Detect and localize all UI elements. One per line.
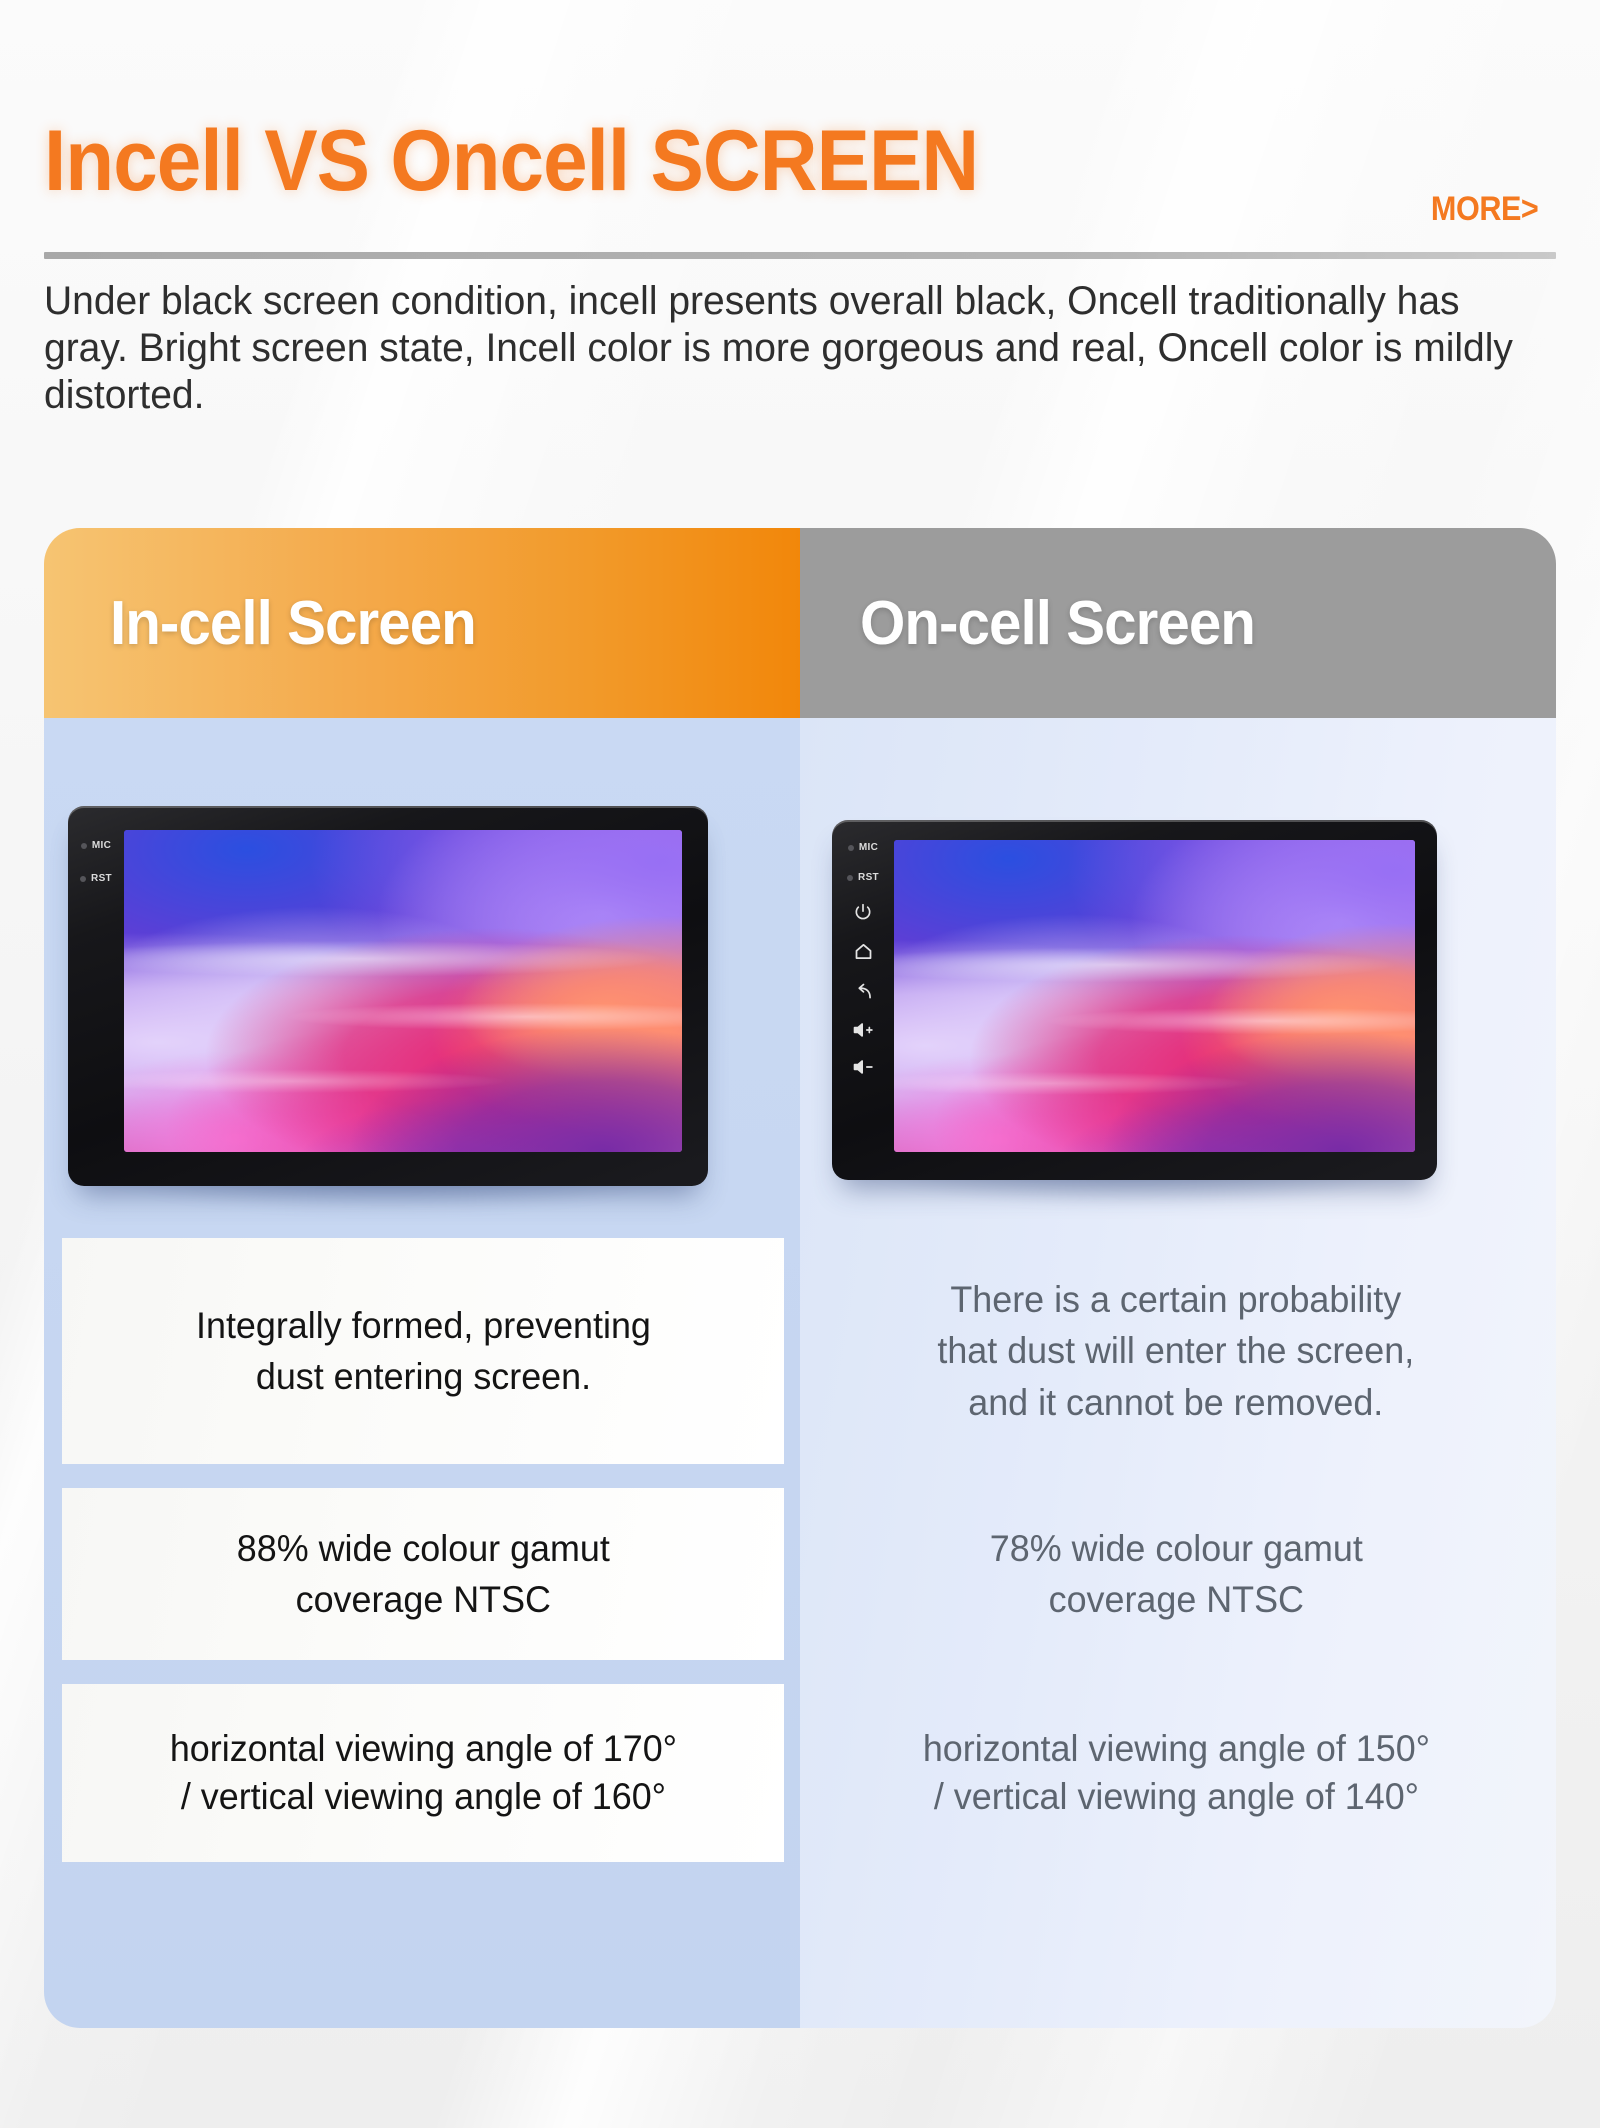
title-divider (44, 252, 1556, 259)
mic-indicator-dot (848, 845, 854, 851)
page-subtitle: Under black screen condition, incell pre… (44, 278, 1526, 420)
wallpaper-layer-highlights (894, 840, 1415, 1152)
comparison-tabs: In-cell Screen On-cell Screen (44, 528, 1556, 718)
feature-line: horizontal viewing angle of 170° (169, 1728, 676, 1769)
mic-icon[interactable]: MIC (81, 840, 111, 851)
mic-icon[interactable]: MIC (848, 842, 878, 853)
device-on-cell: MIC RST (832, 820, 1437, 1180)
tab-in-cell-screen[interactable]: In-cell Screen (44, 528, 800, 718)
feature-cards-on-cell: There is a certain probability that dust… (800, 1238, 1556, 2028)
feature-line: coverage NTSC (295, 1579, 550, 1620)
feature-card: horizontal viewing angle of 150° / verti… (806, 1684, 1546, 1862)
mic-indicator-dot (81, 843, 87, 849)
feature-card: Integrally formed, preventing dust enter… (62, 1238, 784, 1464)
feature-card-text: Integrally formed, preventing dust enter… (196, 1300, 651, 1402)
feature-line: dust entering screen. (255, 1356, 590, 1397)
device-control-column: MIC RST (832, 820, 894, 1202)
feature-line: There is a certain probability (951, 1279, 1402, 1320)
tab-in-cell-screen-label: In-cell Screen (110, 588, 476, 659)
feature-line: that dust will enter the screen, (938, 1330, 1415, 1371)
device-control-column: MIC RST (68, 806, 124, 1220)
volume-up-icon[interactable] (852, 1021, 874, 1039)
feature-line: Integrally formed, preventing (196, 1305, 651, 1346)
home-icon[interactable] (853, 941, 874, 962)
volume-down-icon[interactable] (852, 1058, 874, 1076)
feature-card: There is a certain probability that dust… (806, 1238, 1546, 1464)
feature-line: 88% wide colour gamut (236, 1528, 609, 1569)
reset-indicator-dot (80, 876, 86, 882)
power-icon[interactable] (853, 902, 873, 922)
comparison-panels: MIC RST (44, 718, 1556, 2028)
feature-card: 88% wide colour gamut coverage NTSC (62, 1488, 784, 1660)
back-icon[interactable] (853, 981, 874, 1002)
mic-label: MIC (859, 842, 878, 853)
feature-card-text: 78% wide colour gamut coverage NTSC (989, 1523, 1362, 1625)
reset-indicator-dot (847, 875, 853, 881)
feature-card-text: 88% wide colour gamut coverage NTSC (236, 1523, 609, 1625)
tab-on-cell-screen-label: On-cell Screen (860, 588, 1255, 659)
reset-label: RST (91, 873, 112, 884)
feature-card: 78% wide colour gamut coverage NTSC (806, 1488, 1546, 1660)
device-screen (124, 830, 682, 1152)
feature-card-text: horizontal viewing angle of 170° / verti… (169, 1725, 676, 1821)
page-header: Incell VS Oncell SCREEN MORE> Under blac… (0, 0, 1600, 470)
page-title: Incell VS Oncell SCREEN (44, 118, 978, 204)
feature-line: / vertical viewing angle of 140° (933, 1776, 1418, 1817)
comparison-board: In-cell Screen On-cell Screen MIC (44, 528, 1556, 2028)
feature-card-text: There is a certain probability that dust… (938, 1274, 1415, 1427)
feature-card-text: horizontal viewing angle of 150° / verti… (922, 1725, 1429, 1821)
mic-label: MIC (92, 840, 111, 851)
feature-line: horizontal viewing angle of 150° (922, 1728, 1429, 1769)
tab-on-cell-screen[interactable]: On-cell Screen (800, 528, 1556, 718)
reset-icon[interactable]: RST (847, 872, 879, 883)
feature-line: 78% wide colour gamut (989, 1528, 1362, 1569)
device-bezel: MIC RST (832, 820, 1437, 1180)
more-link[interactable]: MORE> (1431, 190, 1538, 229)
feature-cards-in-cell: Integrally formed, preventing dust enter… (44, 1238, 800, 2028)
device-screen (894, 840, 1415, 1152)
panel-on-cell: MIC RST (800, 718, 1556, 2028)
panel-in-cell: MIC RST (44, 718, 800, 2028)
reset-icon[interactable]: RST (80, 873, 112, 884)
reset-label: RST (858, 872, 879, 883)
feature-line: and it cannot be removed. (968, 1382, 1383, 1423)
feature-card: horizontal viewing angle of 170° / verti… (62, 1684, 784, 1862)
device-bezel: MIC RST (68, 806, 708, 1186)
device-in-cell: MIC RST (68, 806, 708, 1186)
feature-line: coverage NTSC (1048, 1579, 1303, 1620)
feature-line: / vertical viewing angle of 160° (180, 1776, 665, 1817)
wallpaper-layer-highlights (124, 830, 682, 1152)
